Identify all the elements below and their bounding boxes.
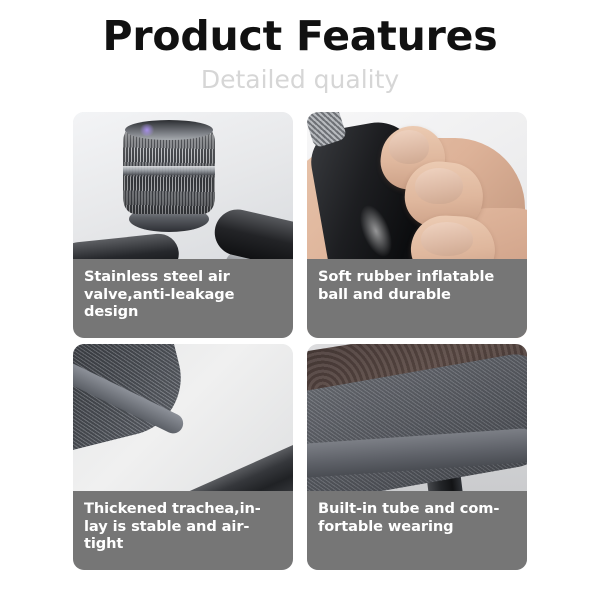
feature-caption-overlay: Built-in tube and com- fortable wearing (307, 491, 527, 570)
feature-card-stainless-steel-air-valve: Stainless steel air valve,anti-leakage d… (73, 112, 293, 338)
feature-card-thickened-trachea: Thickened trachea,in- lay is stable and … (73, 344, 293, 570)
product-features-infographic: Product Features Detailed quality Stainl… (0, 0, 600, 600)
feature-card-built-in-tube: Built-in tube and com- fortable wearing (307, 344, 527, 570)
feature-card-soft-rubber-inflatable-ball: Soft rubber inflatable ball and durable (307, 112, 527, 338)
knurled-nut-band-shape (123, 166, 215, 175)
feature-caption-overlay: Stainless steel air valve,anti-leakage d… (73, 259, 293, 338)
chrome-highlight-glint (139, 124, 155, 136)
fingernail-shape (389, 130, 429, 164)
feature-caption-overlay: Thickened trachea,in- lay is stable and … (73, 491, 293, 570)
feature-caption-text: Soft rubber inflatable ball and durable (318, 268, 517, 303)
fingernail-shape (415, 168, 463, 204)
page-subtitle: Detailed quality (0, 65, 600, 95)
feature-caption-text: Stainless steel air valve,anti-leakage d… (84, 268, 283, 321)
header: Product Features Detailed quality (0, 0, 600, 95)
feature-caption-overlay: Soft rubber inflatable ball and durable (307, 259, 527, 338)
feature-caption-text: Thickened trachea,in- lay is stable and … (84, 500, 283, 553)
fingernail-shape (421, 222, 473, 256)
page-title: Product Features (0, 14, 600, 60)
feature-caption-text: Built-in tube and com- fortable wearing (318, 500, 517, 535)
feature-card-grid: Stainless steel air valve,anti-leakage d… (73, 112, 527, 570)
